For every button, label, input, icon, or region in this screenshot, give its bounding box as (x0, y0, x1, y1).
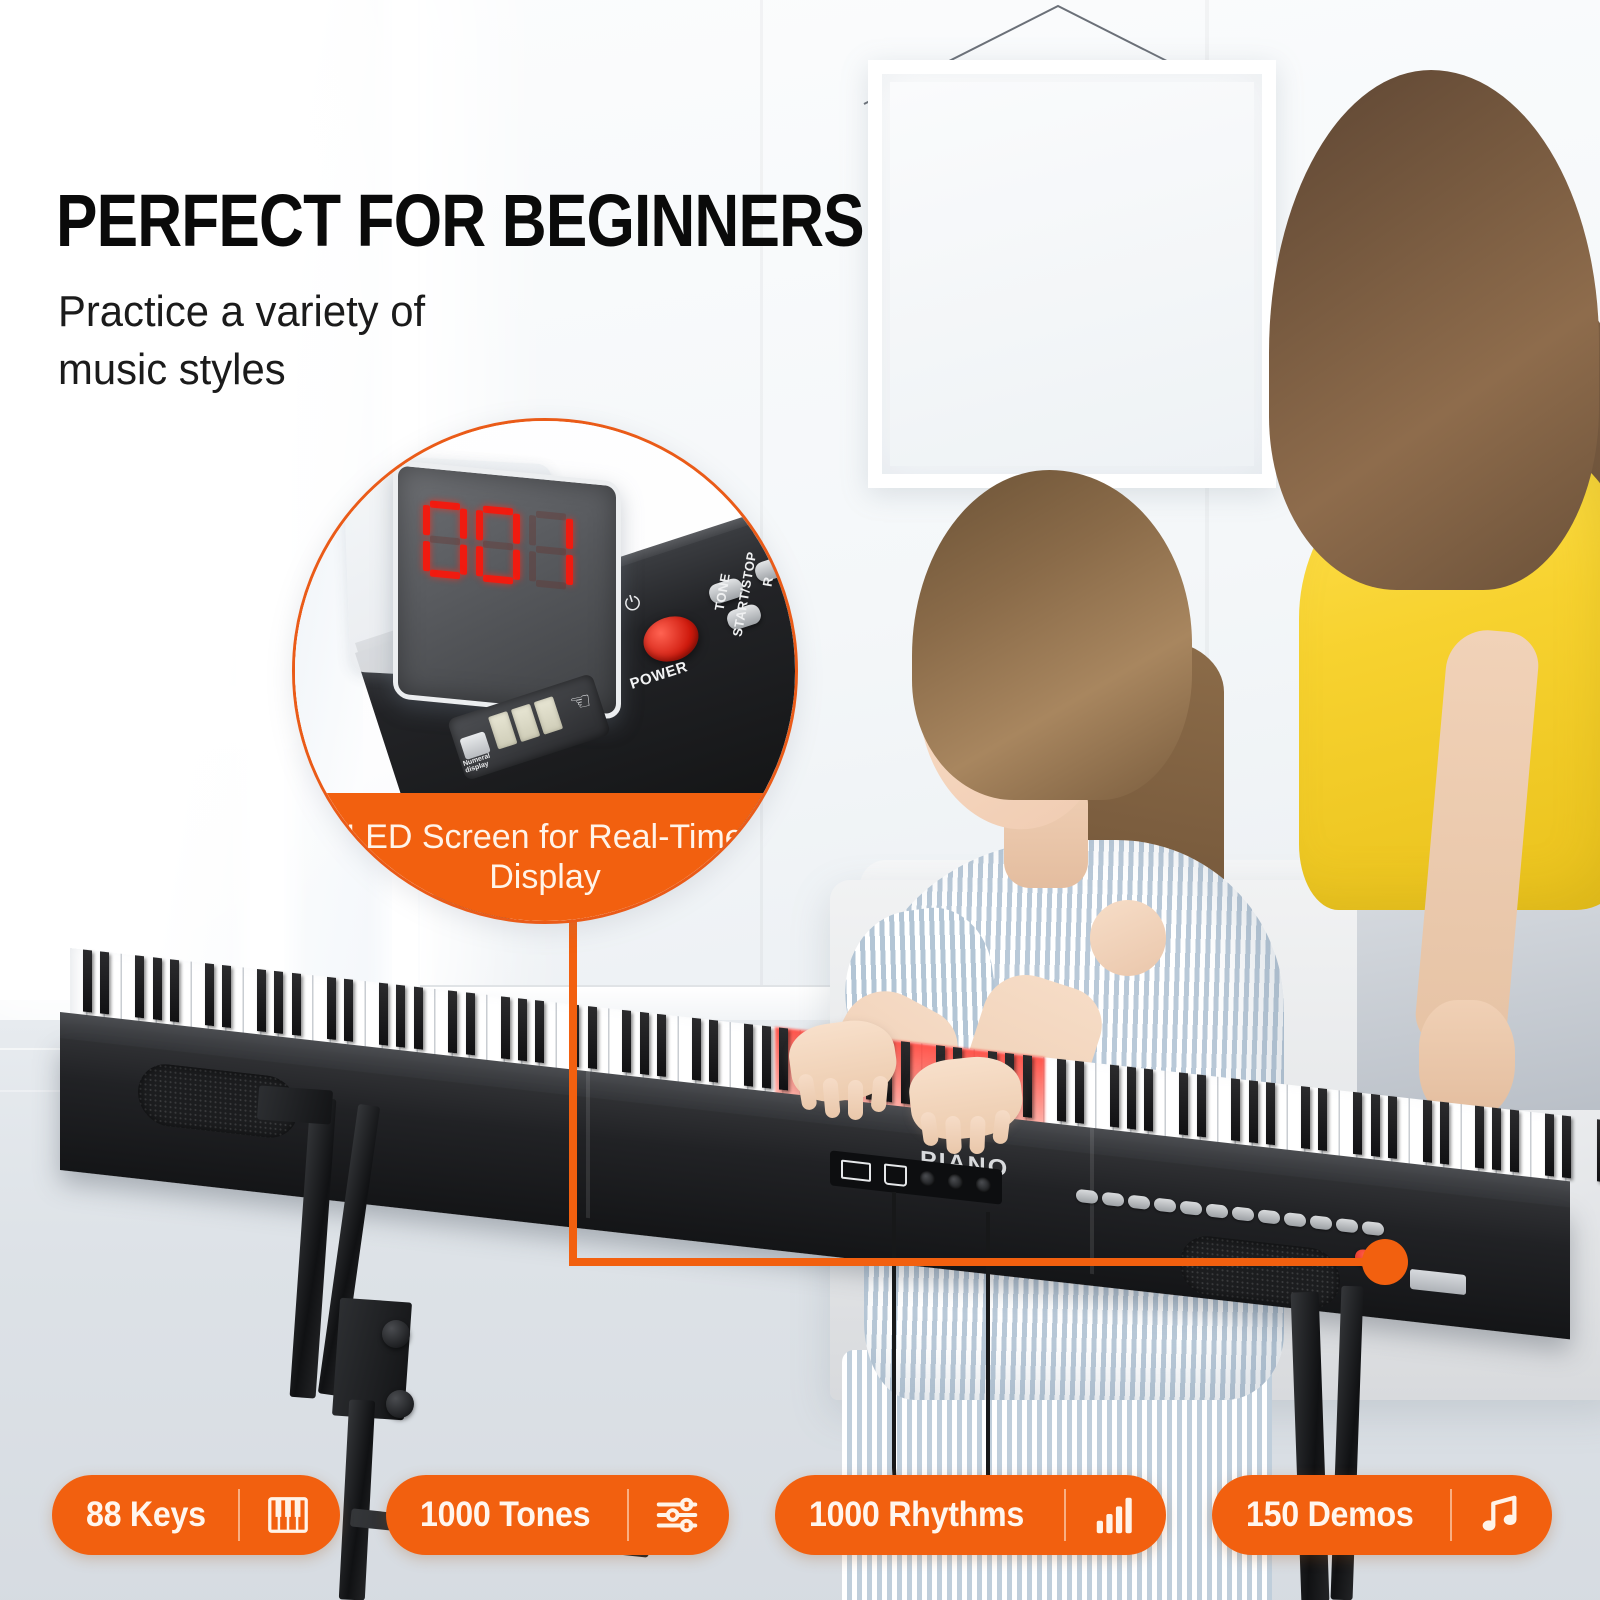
page-title: PERFECT FOR BEGINNERS (56, 178, 864, 263)
panel-button[interactable] (1258, 1209, 1280, 1224)
badge-1000-rhythms[interactable]: 1000 Rhythms (775, 1475, 1167, 1555)
panel-button[interactable] (1336, 1218, 1358, 1233)
black-key[interactable] (414, 987, 423, 1050)
black-key[interactable] (744, 1024, 753, 1087)
black-key[interactable] (1249, 1080, 1258, 1143)
black-key[interactable] (1057, 1059, 1066, 1122)
page-subtitle: Practice a variety of music styles (58, 283, 425, 399)
callout-caption-banner: LED Screen for Real-Time Display (295, 793, 795, 921)
black-key[interactable] (692, 1018, 701, 1081)
audio-jack[interactable] (948, 1174, 963, 1191)
panel-button[interactable] (1128, 1195, 1150, 1210)
black-key[interactable] (153, 957, 162, 1020)
callout-connector-horizontal (569, 1258, 1387, 1266)
black-key[interactable] (344, 979, 353, 1042)
led-digits (423, 500, 573, 590)
badge-label: 150 Demos (1246, 1495, 1414, 1535)
led-digit-2 (529, 510, 573, 590)
badge-label: 88 Keys (86, 1495, 206, 1535)
black-key[interactable] (466, 992, 475, 1055)
black-key[interactable] (1492, 1108, 1501, 1171)
black-key[interactable] (1075, 1061, 1084, 1124)
black-key[interactable] (1353, 1092, 1362, 1155)
usb-a-port[interactable] (841, 1160, 871, 1182)
girl-hair (912, 470, 1192, 800)
black-key[interactable] (588, 1006, 597, 1069)
panel-seam (586, 1068, 590, 1218)
black-key[interactable] (622, 1010, 631, 1073)
badge-label: 1000 Rhythms (809, 1495, 1024, 1535)
black-key[interactable] (205, 963, 214, 1026)
panel-button[interactable] (1154, 1197, 1176, 1212)
black-key[interactable] (1301, 1086, 1310, 1149)
black-key[interactable] (274, 971, 283, 1034)
black-key[interactable] (327, 977, 336, 1040)
sliders-icon (651, 1489, 703, 1541)
badge-divider (238, 1489, 240, 1541)
panel-button[interactable] (1180, 1200, 1202, 1215)
finger (969, 1116, 985, 1155)
led-digit-1 (476, 505, 520, 585)
badge-88-keys[interactable]: 88 Keys (52, 1475, 340, 1555)
black-key[interactable] (1110, 1065, 1119, 1128)
led-digit-0 (423, 500, 467, 580)
black-key[interactable] (222, 965, 231, 1028)
black-key[interactable] (292, 973, 301, 1036)
subtitle-line-1: Practice a variety of (58, 283, 425, 341)
black-key[interactable] (901, 1041, 910, 1104)
black-key[interactable] (1127, 1067, 1136, 1130)
panel-button[interactable] (1310, 1215, 1332, 1230)
black-key[interactable] (170, 959, 179, 1022)
black-key[interactable] (1388, 1096, 1397, 1159)
panel-button[interactable] (1362, 1221, 1384, 1236)
badge-1000-tones[interactable]: 1000 Tones (386, 1475, 729, 1555)
led-screen-callout: ⏻ POWER TONE R START/STOP Numeral displa… (292, 418, 798, 924)
black-key[interactable] (709, 1020, 718, 1083)
audio-jack[interactable] (976, 1177, 991, 1194)
black-key[interactable] (257, 969, 266, 1032)
black-key[interactable] (448, 990, 457, 1053)
panel-button[interactable] (1206, 1203, 1228, 1218)
bar-levels-icon (1088, 1489, 1140, 1541)
black-key[interactable] (1144, 1069, 1153, 1132)
music-note-icon (1474, 1489, 1526, 1541)
badge-150-demos[interactable]: 150 Demos (1212, 1475, 1552, 1555)
numeral-digits (488, 696, 563, 749)
piano-keys-icon (262, 1489, 314, 1541)
black-key[interactable] (779, 1028, 788, 1091)
black-key[interactable] (501, 996, 510, 1059)
badge-divider (1064, 1489, 1066, 1541)
black-key[interactable] (657, 1014, 666, 1077)
black-key[interactable] (1545, 1113, 1554, 1176)
badge-label: 1000 Tones (420, 1495, 590, 1535)
callout-connector-endpoint (1362, 1239, 1408, 1285)
black-key[interactable] (1266, 1082, 1275, 1145)
panel-button[interactable] (1284, 1212, 1306, 1227)
product-marketing-image: PIANO (0, 0, 1600, 1600)
usb-b-port[interactable] (884, 1163, 907, 1187)
black-key[interactable] (1197, 1074, 1206, 1137)
black-key[interactable] (1423, 1100, 1432, 1163)
wall-picture-frame (868, 60, 1276, 488)
panel-button[interactable] (1102, 1192, 1124, 1207)
badge-divider (627, 1489, 629, 1541)
black-key[interactable] (1231, 1078, 1240, 1141)
black-key[interactable] (135, 955, 144, 1018)
frame-canvas (890, 82, 1254, 466)
panel-button[interactable] (1232, 1206, 1254, 1221)
feature-badge-row: 88 Keys 1000 Tones (52, 1472, 1552, 1558)
black-key[interactable] (1440, 1102, 1449, 1165)
finger (945, 1116, 962, 1155)
audio-jack[interactable] (920, 1170, 935, 1187)
hand-press-icon: ☜ (568, 686, 595, 719)
black-key[interactable] (379, 983, 388, 1046)
stand-bracket (257, 1085, 333, 1124)
black-key[interactable] (518, 998, 527, 1061)
black-key[interactable] (1371, 1094, 1380, 1157)
finger (848, 1080, 863, 1120)
subtitle-line-2: music styles (58, 341, 425, 399)
height-adjust-knob[interactable] (382, 1320, 410, 1348)
black-key[interactable] (1475, 1106, 1484, 1169)
black-key[interactable] (100, 951, 109, 1014)
badge-divider (1450, 1489, 1452, 1541)
black-key[interactable] (640, 1012, 649, 1075)
black-key[interactable] (762, 1026, 771, 1089)
black-key[interactable] (396, 985, 405, 1048)
black-key[interactable] (1179, 1072, 1188, 1135)
black-key[interactable] (535, 1000, 544, 1063)
black-key[interactable] (1318, 1088, 1327, 1151)
black-key[interactable] (1023, 1055, 1032, 1118)
callout-caption: LED Screen for Real-Time Display (295, 817, 795, 897)
black-key[interactable] (83, 949, 92, 1012)
black-key[interactable] (1562, 1115, 1571, 1178)
callout-connector-vertical (569, 900, 577, 1266)
black-key[interactable] (1510, 1109, 1519, 1172)
panel-button[interactable] (1076, 1189, 1098, 1204)
height-adjust-knob[interactable] (386, 1390, 414, 1418)
